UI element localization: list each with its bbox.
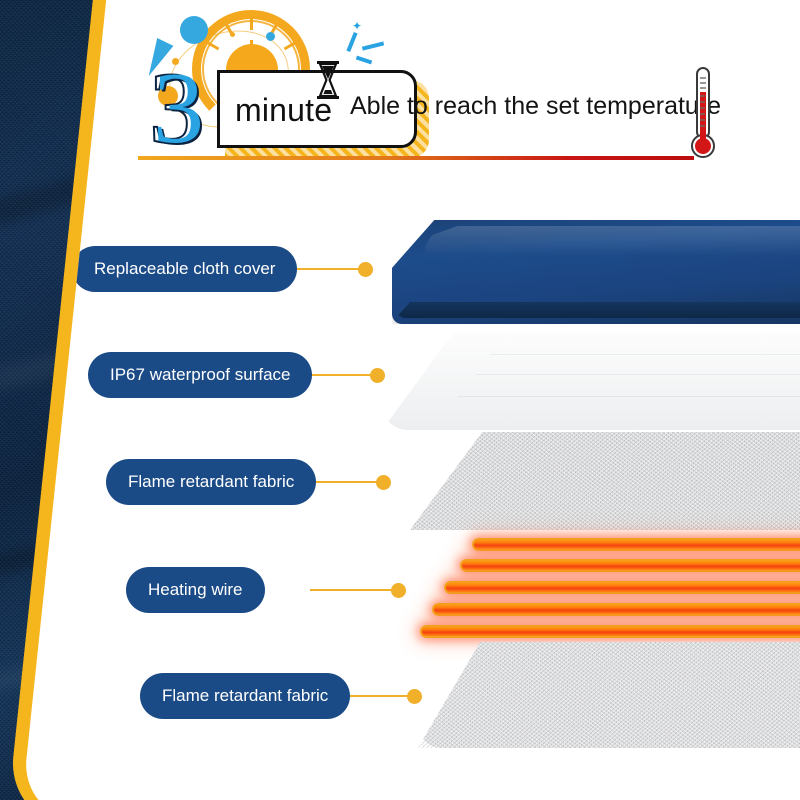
badge-number: 3 — [153, 58, 204, 160]
infographic-canvas: ✦ 3 3 minute Able to reach the set tempe… — [0, 0, 800, 800]
callout-leader-line — [310, 589, 392, 591]
layer-seam-line — [475, 374, 800, 375]
callout-label-flame-retardant-fabric-lower: Flame retardant fabric — [140, 673, 350, 719]
callout-label-heating-wire: Heating wire — [126, 567, 265, 613]
layer-seam-line — [458, 396, 800, 397]
layer-flame-retardant-lower — [418, 642, 800, 748]
felt-texture — [410, 432, 800, 530]
callout-label-ip67-waterproof-surface: IP67 waterproof surface — [88, 352, 312, 398]
layer-flame-retardant-upper — [410, 432, 800, 530]
layer-white-waterproof — [382, 332, 800, 430]
callout-dot — [407, 689, 422, 704]
callout-label-flame-retardant-fabric-upper: Flame retardant fabric — [106, 459, 316, 505]
white-content-panel: ✦ 3 3 minute Able to reach the set tempe… — [20, 0, 800, 800]
heating-wire-strand — [420, 625, 800, 638]
felt-texture — [418, 642, 800, 748]
layer-seam-line — [490, 354, 800, 355]
callout-dot — [376, 475, 391, 490]
heating-wire-strand — [432, 603, 800, 616]
heating-wire-strand — [472, 538, 800, 551]
callout-label-replaceable-cloth-cover: Replaceable cloth cover — [72, 246, 297, 292]
heating-wire-strand — [444, 581, 800, 594]
callout-dot — [358, 262, 373, 277]
layer-blue-highlight — [424, 226, 800, 256]
callout-dot — [370, 368, 385, 383]
layer-blue-edge-shadow — [396, 302, 800, 318]
heating-wire-strand — [460, 559, 800, 572]
callout-dot — [391, 583, 406, 598]
hourglass-icon — [315, 60, 341, 100]
